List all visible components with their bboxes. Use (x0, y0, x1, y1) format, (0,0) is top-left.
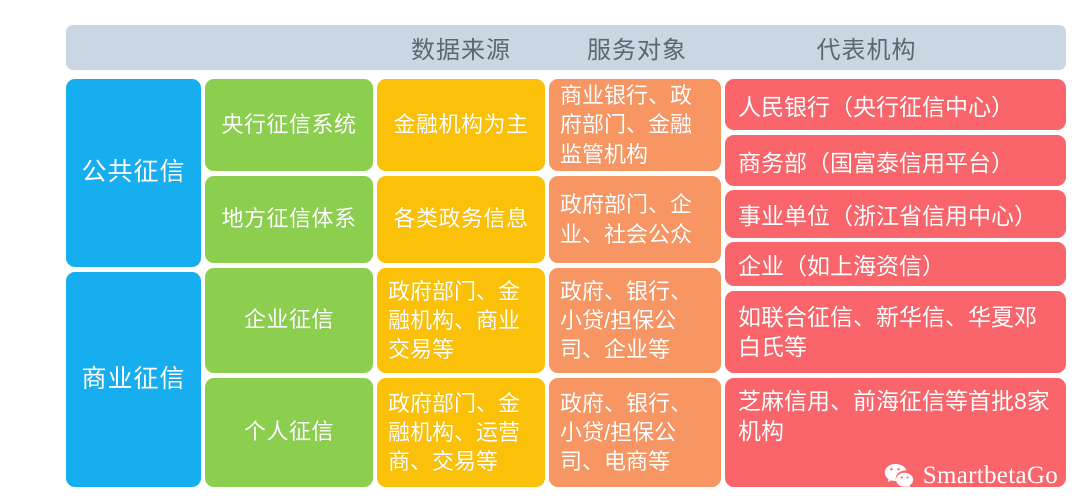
column-subcategory: 央行征信系统 地方征信体系 企业征信 个人征信 (205, 79, 373, 487)
subcategory-cell-central-bank-system: 央行征信系统 (205, 79, 373, 171)
organization-cell-1: 人民银行（央行征信中心） (725, 79, 1066, 130)
column-category: 公共征信 商业征信 (66, 79, 201, 487)
organization-cell-6: 芝麻信用、前海征信等首批8家机构 (725, 378, 1066, 487)
service-target-cell-4: 政府、银行、小贷/担保公司、电商等 (549, 378, 721, 487)
service-target-cell-1: 商业银行、政府部门、金融监管机构 (549, 79, 721, 171)
organization-cell-4: 企业（如上海资信） (725, 242, 1066, 286)
header-label-data-source: 数据来源 (375, 30, 547, 65)
header-label-service-target: 服务对象 (547, 30, 727, 65)
header-label-organization: 代表机构 (727, 30, 1066, 65)
data-source-cell-4: 政府部门、金融机构、运营商、交易等 (377, 378, 545, 487)
infographic-root: 数据来源 服务对象 代表机构 公共征信 商业征信 央行征信系统 地方征信体系 企… (0, 0, 1080, 501)
organization-cell-5: 如联合征信、新华信、华夏邓白氏等 (725, 291, 1066, 373)
subcategory-cell-enterprise-credit: 企业征信 (205, 268, 373, 373)
service-target-cell-3: 政府、银行、小贷/担保公司、企业等 (549, 268, 721, 373)
data-source-cell-2: 各类政务信息 (377, 176, 545, 263)
data-source-cell-3: 政府部门、金融机构、商业交易等 (377, 268, 545, 373)
column-service-target: 商业银行、政府部门、金融监管机构 政府部门、企业、社会公众 政府、银行、小贷/担… (549, 79, 721, 487)
matrix-grid: 公共征信 商业征信 央行征信系统 地方征信体系 企业征信 个人征信 金融机构为主… (66, 79, 1066, 487)
organization-cell-3: 事业单位（浙江省信用中心） (725, 190, 1066, 238)
data-source-cell-1: 金融机构为主 (377, 79, 545, 171)
subcategory-cell-personal-credit: 个人征信 (205, 378, 373, 487)
subcategory-cell-local-system: 地方征信体系 (205, 176, 373, 263)
column-header-bar: 数据来源 服务对象 代表机构 (66, 25, 1066, 70)
service-target-cell-2: 政府部门、企业、社会公众 (549, 176, 721, 263)
column-data-source: 金融机构为主 各类政务信息 政府部门、金融机构、商业交易等 政府部门、金融机构、… (377, 79, 545, 487)
column-organization: 人民银行（央行征信中心） 商务部（国富泰信用平台） 事业单位（浙江省信用中心） … (725, 79, 1066, 487)
category-cell-commercial-credit: 商业征信 (66, 272, 201, 487)
category-cell-public-credit: 公共征信 (66, 79, 201, 267)
organization-cell-2: 商务部（国富泰信用平台） (725, 135, 1066, 186)
